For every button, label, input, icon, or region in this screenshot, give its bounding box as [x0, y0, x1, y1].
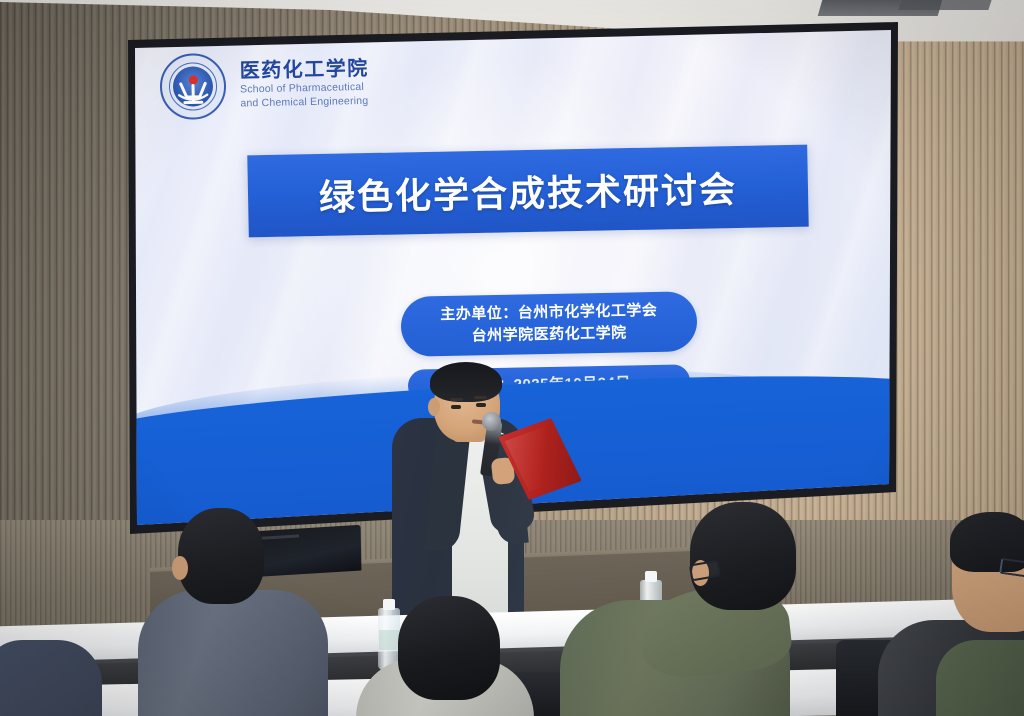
school-name-en-line2: and Chemical Engineering [240, 96, 369, 110]
speaker-hair [430, 362, 502, 402]
school-name-block: 医药化工学院 School of Pharmaceutical and Chem… [239, 58, 369, 111]
slide-title: 绿色化学合成技术研讨会 [319, 161, 738, 221]
audience-head [178, 508, 264, 604]
ceiling-vent-secondary-icon [898, 0, 991, 10]
organizer-pill: 主办单位：台州市化学化工学会 台州学院医药化工学院 [400, 291, 697, 356]
conference-room-scene: 医药化工学院 School of Pharmaceutical and Chem… [0, 0, 1024, 716]
audience-body [138, 590, 328, 716]
university-seal-icon [159, 53, 226, 120]
speaker-brow-right [474, 396, 487, 399]
audience-head [690, 502, 796, 610]
school-name-cn: 医药化工学院 [239, 58, 368, 83]
seal-figure-icon [161, 55, 224, 118]
speaker-ear [428, 398, 440, 416]
speaker-eye-right [476, 403, 486, 407]
slide-header: 医药化工学院 School of Pharmaceutical and Chem… [159, 50, 369, 120]
speaker-brow-left [450, 398, 463, 401]
slide-title-bar: 绿色化学合成技术研讨会 [247, 145, 808, 238]
speaker-eye-left [451, 405, 461, 409]
audience-head [398, 596, 500, 700]
microphone-head-icon [482, 412, 501, 431]
audience-ear [172, 556, 188, 580]
audience-body [0, 640, 102, 716]
audience-body [936, 640, 1024, 716]
